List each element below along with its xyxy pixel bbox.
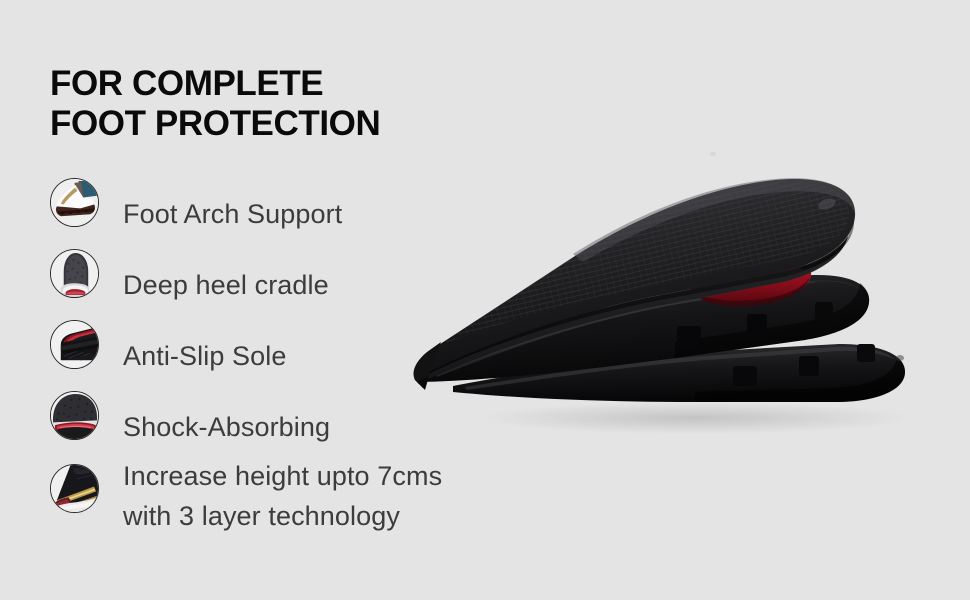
list-item-label: Deep heel cradle xyxy=(123,265,329,305)
dark-heel-cup-icon xyxy=(50,249,99,298)
list-item: Increase height upto 7cms with 3 layer t… xyxy=(50,462,480,552)
black-sole-red-stripe-icon xyxy=(50,320,99,369)
page-title-line-2: FOOT PROTECTION xyxy=(50,104,380,144)
black-gold-boot-icon xyxy=(50,464,99,513)
list-item-label: Anti-Slip Sole xyxy=(123,336,286,376)
list-item-label: Shock-Absorbing xyxy=(123,407,330,447)
list-item-label: Foot Arch Support xyxy=(123,194,342,234)
foam-air-cushion-icon xyxy=(50,391,99,440)
product-infographic: FOR COMPLETE FOOT PROTECTION xyxy=(0,0,970,600)
page-title-line-1: FOR COMPLETE xyxy=(50,64,380,104)
page-title: FOR COMPLETE FOOT PROTECTION xyxy=(50,64,380,144)
list-item-label: Increase height upto 7cms with 3 layer t… xyxy=(123,456,442,536)
product-image xyxy=(395,130,955,450)
white-sneaker-arch-icon xyxy=(50,178,99,227)
three-layer-insole-illustration xyxy=(395,130,955,450)
